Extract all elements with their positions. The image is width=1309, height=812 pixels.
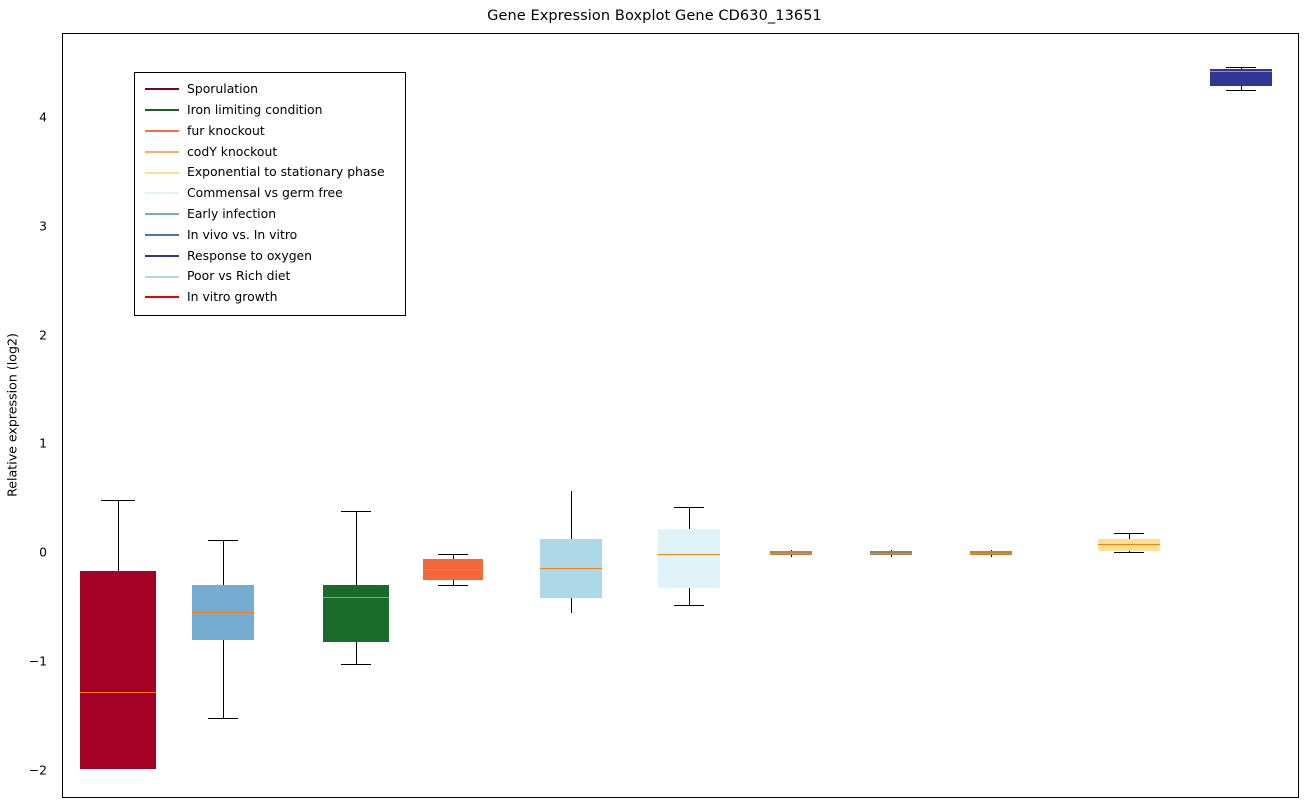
legend-item-2[interactable]: fur knockout bbox=[143, 121, 397, 142]
legend-item-9[interactable]: Poor vs Rich diet bbox=[143, 266, 397, 287]
legend-swatch-icon bbox=[145, 255, 179, 257]
median-line-10 bbox=[1210, 71, 1272, 72]
legend-item-5[interactable]: Commensal vs germ free bbox=[143, 183, 397, 204]
legend-swatch-icon bbox=[145, 172, 179, 174]
legend-item-3[interactable]: codY knockout bbox=[143, 141, 397, 162]
legend-swatch-icon bbox=[145, 192, 179, 194]
legend-label: Early infection bbox=[187, 208, 276, 220]
y-axis-title: Relative expression (log2) bbox=[5, 333, 20, 497]
legend-swatch-icon bbox=[145, 151, 179, 153]
chart-title: Gene Expression Boxplot Gene CD630_13651 bbox=[0, 8, 1309, 24]
legend-label: Poor vs Rich diet bbox=[187, 270, 290, 282]
chart-canvas: Gene Expression Boxplot Gene CD630_13651… bbox=[0, 0, 1309, 812]
legend-label: Iron limiting condition bbox=[187, 104, 323, 116]
legend-item-0[interactable]: Sporulation bbox=[143, 79, 397, 100]
legend-item-4[interactable]: Exponential to stationary phase bbox=[143, 162, 397, 183]
legend-swatch-icon bbox=[145, 109, 179, 111]
y-tick-label-5: 3 bbox=[39, 218, 47, 233]
legend-label: In vitro growth bbox=[187, 291, 278, 303]
legend-swatch-icon bbox=[145, 213, 179, 215]
legend-item-10[interactable]: In vitro growth bbox=[143, 287, 397, 308]
legend-swatch-icon bbox=[145, 296, 179, 298]
legend-label: Sporulation bbox=[187, 83, 258, 95]
legend-label: Commensal vs germ free bbox=[187, 187, 343, 199]
y-axis: Relative expression (log2) −2−101234 bbox=[0, 0, 62, 812]
legend-swatch-icon bbox=[145, 130, 179, 132]
y-tick-label-2: 0 bbox=[39, 545, 47, 560]
legend[interactable]: SporulationIron limiting conditionfur kn… bbox=[134, 72, 406, 316]
legend-label: Response to oxygen bbox=[187, 250, 312, 262]
whisker-cap-lower-10 bbox=[1226, 90, 1256, 91]
y-tick-label-3: 1 bbox=[39, 436, 47, 451]
plot-area: SporulationIron limiting conditionfur kn… bbox=[62, 33, 1299, 798]
legend-item-6[interactable]: Early infection bbox=[143, 204, 397, 225]
legend-swatch-icon bbox=[145, 276, 179, 278]
legend-item-1[interactable]: Iron limiting condition bbox=[143, 100, 397, 121]
y-tick-label-1: −1 bbox=[29, 653, 47, 668]
legend-swatch-icon bbox=[145, 234, 179, 236]
legend-label: fur knockout bbox=[187, 125, 265, 137]
legend-item-7[interactable]: In vivo vs. In vitro bbox=[143, 225, 397, 246]
y-tick-label-4: 2 bbox=[39, 327, 47, 342]
legend-swatch-icon bbox=[145, 88, 179, 90]
y-tick-label-0: −2 bbox=[29, 762, 47, 777]
legend-label: Exponential to stationary phase bbox=[187, 166, 385, 178]
y-tick-label-6: 4 bbox=[39, 110, 47, 125]
legend-item-8[interactable]: Response to oxygen bbox=[143, 245, 397, 266]
legend-label: codY knockout bbox=[187, 146, 277, 158]
legend-label: In vivo vs. In vitro bbox=[187, 229, 297, 241]
